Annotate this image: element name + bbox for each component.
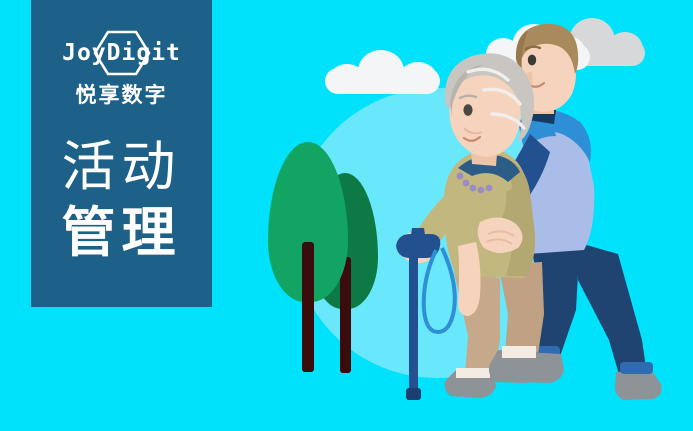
cane-tip (406, 388, 421, 400)
page-title-line1: 活动 (31, 134, 212, 200)
elderly-woman-forearm (458, 242, 481, 316)
brand-logo-block: JoyDigit 悦享数字 (31, 30, 212, 109)
page-title-line2: 管理 (31, 200, 212, 266)
elderly-woman-back-sock (456, 368, 490, 378)
brand-wordmark: JoyDigit (31, 38, 212, 68)
cane-shaft (409, 254, 418, 396)
elderly-woman-eye (463, 104, 472, 116)
young-man-far-cuff (620, 362, 653, 374)
page-title: 活动 管理 (31, 134, 212, 266)
young-man-far-shoe (615, 370, 662, 400)
poster-canvas: JoyDigit 悦享数字 活动 管理 (0, 0, 693, 431)
cane-handle-neck (410, 228, 426, 242)
people-illustration (380, 10, 680, 410)
brand-logo-mark: JoyDigit (31, 30, 212, 76)
elderly-woman-figure (398, 53, 544, 398)
elderly-woman-front-sock (502, 346, 536, 358)
brand-subtitle: 悦享数字 (31, 83, 212, 109)
young-man-eye (528, 55, 536, 66)
walking-cane-icon (396, 228, 455, 400)
tree-trunk (302, 242, 314, 372)
tree-icon-front (268, 142, 348, 372)
brand-panel: JoyDigit 悦享数字 活动 管理 (31, 0, 212, 307)
